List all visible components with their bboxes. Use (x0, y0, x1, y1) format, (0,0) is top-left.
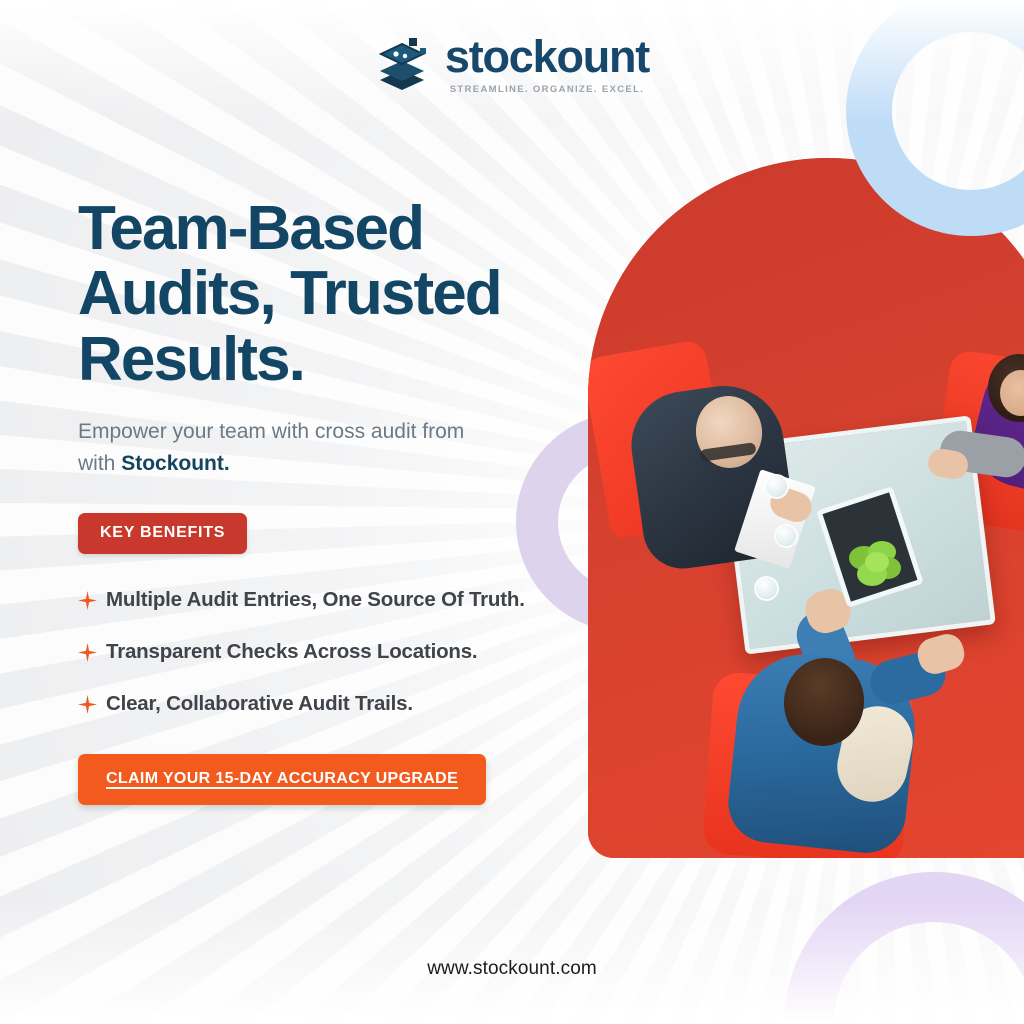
list-item: Clear, Collaborative Audit Trails. (78, 692, 548, 716)
headline-line-2: Audits, Trusted (78, 259, 501, 328)
list-item-label: Transparent Checks Across Locations. (106, 640, 477, 664)
brand-tagline: STREAMLINE. ORGANIZE. EXCEL. (450, 84, 645, 95)
headline-line-3: Results. (78, 325, 304, 394)
brand-logo[interactable]: stockount STREAMLINE. ORGANIZE. EXCEL. (0, 34, 1024, 95)
page-title: Team-Based Audits, Trusted Results. (78, 196, 548, 392)
subheading: Empower your team with cross audit from … (78, 416, 478, 479)
brand-name: stockount (445, 34, 649, 79)
layered-cube-icon (375, 36, 431, 92)
decorative-purple-ring-bottom (784, 872, 1024, 1024)
hero-photo-arch (588, 158, 1024, 858)
sparkle-icon (78, 643, 97, 662)
water-glass (764, 474, 789, 499)
subheading-emphasis: Stockount. (121, 452, 230, 475)
status-badge: KEY BENEFITS (78, 513, 247, 554)
water-glass (754, 576, 779, 601)
content-column: Team-Based Audits, Trusted Results. Empo… (78, 196, 548, 805)
sparkle-icon (78, 591, 97, 610)
meeting-photo (588, 158, 1024, 858)
plant-icon (844, 536, 906, 594)
list-item-label: Multiple Audit Entries, One Source Of Tr… (106, 588, 525, 612)
water-glass (774, 524, 798, 548)
claim-offer-button[interactable]: CLAIM YOUR 15-DAY ACCURACY UPGRADE (78, 754, 486, 805)
list-item: Multiple Audit Entries, One Source Of Tr… (78, 588, 548, 612)
claim-offer-button-label: CLAIM YOUR 15-DAY ACCURACY UPGRADE (106, 770, 458, 787)
poster-canvas: stockount STREAMLINE. ORGANIZE. EXCEL. T… (0, 0, 1024, 1024)
list-item-label: Clear, Collaborative Audit Trails. (106, 692, 413, 716)
headline-line-1: Team-Based (78, 194, 423, 263)
sparkle-icon (78, 695, 97, 714)
benefits-list: Multiple Audit Entries, One Source Of Tr… (78, 588, 548, 716)
list-item: Transparent Checks Across Locations. (78, 640, 548, 664)
website-url[interactable]: www.stockount.com (0, 958, 1024, 980)
